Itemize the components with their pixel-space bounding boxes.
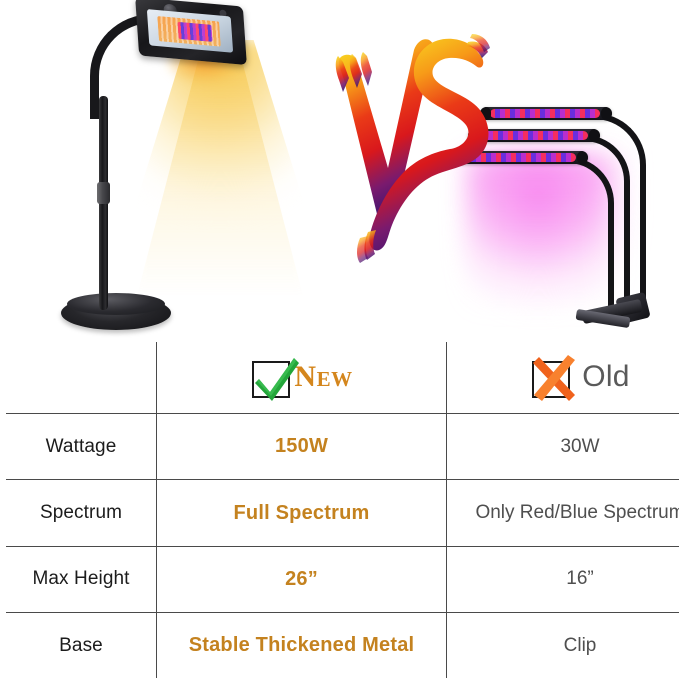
header-old-label: Old [582,360,630,394]
green-check-icon [250,356,294,398]
led-strip-diodes-1 [490,109,600,118]
orange-cross-icon [530,356,574,398]
led-grid [157,16,221,47]
row-new-value: Full Spectrum [157,480,447,546]
row-old-value: 16” [447,546,679,612]
header-new-group: New [163,356,440,398]
header-old-cell: Old [447,341,679,413]
led-strip-bar-1 [480,107,612,120]
row-new-value: 26” [157,546,447,612]
led-strip-diodes-2 [478,131,588,140]
led-core-array [177,22,212,42]
header-new-cell: New [157,341,447,413]
table-header-row: New Old [5,341,679,413]
lamp-pole-collar [97,182,110,204]
comparison-infographic: New Old [0,0,679,683]
row-feature: Spectrum [5,480,157,546]
clip-mount [574,287,650,329]
row-feature: Wattage [5,413,157,479]
vs-badge [330,28,490,263]
row-feature: Base [5,613,157,679]
lamp-led-panel [147,9,233,53]
row-old-value: Clip [447,613,679,679]
row-old-value: Only Red/Blue Spectrum [447,480,679,546]
row-old-value: 30W [447,413,679,479]
row-feature: Max Height [5,546,157,612]
table-row: Max Height 26” 16” [5,546,679,612]
header-new-label: New [294,360,352,394]
table-row: Base Stable Thickened Metal Clip [5,613,679,679]
row-new-value: Stable Thickened Metal [157,613,447,679]
hero-section [0,0,679,338]
led-strip-cap-right-1 [601,107,612,120]
lamp-base [67,293,165,315]
led-strip-cap-right-2 [589,129,600,142]
table-row: Wattage 150W 30W [5,413,679,479]
led-strip-cap-right-3 [577,151,588,164]
lamp-head [135,0,247,65]
header-old-group: Old [453,356,679,398]
table-row: Spectrum Full Spectrum Only Red/Blue Spe… [5,480,679,546]
comparison-table: New Old [4,340,679,680]
comparison-table-wrapper: New Old [4,340,675,680]
header-feature-cell [5,341,157,413]
row-new-value: 150W [157,413,447,479]
new-floor-lamp-illustration [85,0,265,338]
